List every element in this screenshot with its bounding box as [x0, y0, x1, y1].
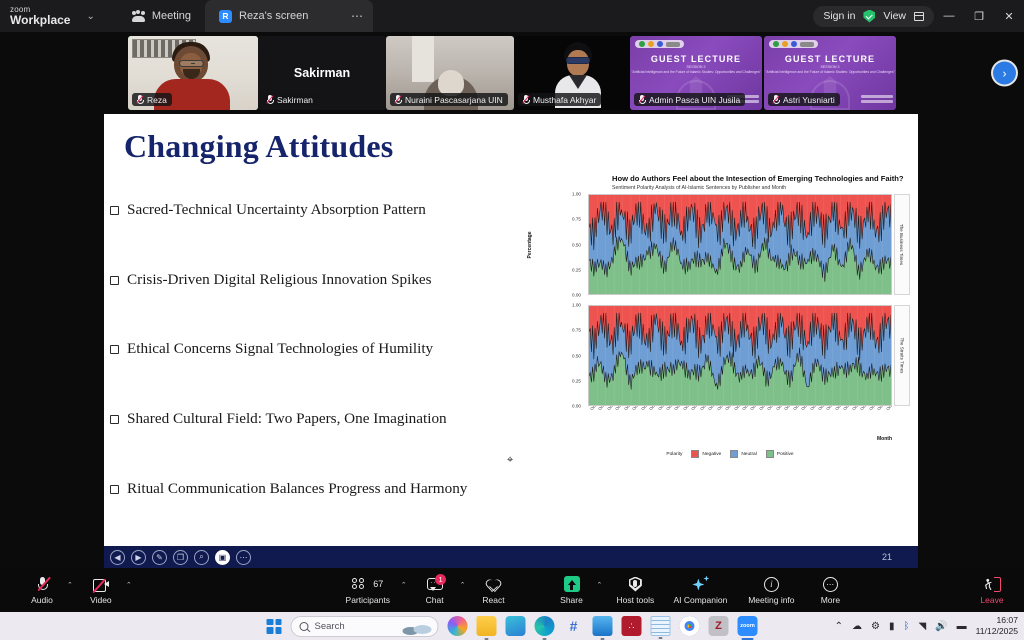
chart-plot-area: [588, 305, 892, 406]
participant-name-chip: Sakirman: [262, 93, 318, 106]
search-placeholder: Search: [315, 621, 345, 632]
share-button[interactable]: Share: [548, 576, 596, 605]
list-item: Crisis-Driven Digital Religious Innovati…: [110, 272, 510, 289]
maximize-button[interactable]: ❐: [964, 0, 994, 32]
participant-name: Reza: [147, 95, 167, 105]
legend-item-neutral: Neutral: [730, 450, 756, 458]
participant-name: Nuraini Pascasarjana UIN: [405, 95, 503, 105]
mic-muted-icon: [638, 95, 645, 105]
checkbox-bullet-icon: [110, 276, 119, 285]
participant-name-chip: Astri Yusniarti: [768, 93, 840, 106]
file-explorer-icon[interactable]: [477, 616, 497, 636]
tab-meeting[interactable]: Meeting: [117, 0, 205, 32]
video-tile-nuraini[interactable]: Nuraini Pascasarjana UIN: [386, 36, 514, 110]
minimize-button[interactable]: —: [934, 0, 964, 32]
poster-subtitle-2: "Artificial Intelligence and the Future …: [764, 70, 896, 74]
participant-name-chip: Musthafa Akhyar: [518, 93, 601, 106]
chart-plot-area: [588, 194, 892, 295]
legend-swatch: [730, 450, 738, 458]
more-horizontal-icon: ⋯: [823, 576, 838, 593]
camera-muted-icon: [93, 576, 109, 593]
participant-filmstrip: Reza Sakirman Sakirman Nuraini Pascasarj…: [0, 32, 1024, 114]
chart-yticks: 1.00 0.75 0.50 0.25 0.00: [554, 305, 584, 406]
window-controls-group: Sign in View — ❐ ✕: [813, 0, 1024, 32]
search-input[interactable]: Search: [291, 616, 439, 637]
sentiment-chart: How do Authors Feel about the Intesectio…: [504, 174, 916, 474]
host-tools-button[interactable]: Host tools: [606, 576, 664, 605]
chat-chevron-icon[interactable]: ⌃: [460, 581, 466, 589]
stacked-area-plot: [589, 306, 891, 405]
zoom-workplace-logo: zoom Workplace: [10, 6, 70, 27]
window-switch-icon[interactable]: ❐: [173, 550, 188, 565]
running-person-icon: [984, 578, 993, 591]
taskbar-apps: Search # ∴ Z zoom: [267, 616, 758, 637]
mic-muted-icon: [266, 95, 273, 105]
people-icon: [131, 10, 145, 22]
tab-rezas-screen-label: Reza's screen: [239, 10, 308, 22]
chart-facet-straits-times: 1.00 0.75 0.50 0.25 0.00 The Straits Tim…: [588, 305, 910, 406]
checkbox-bullet-icon: [110, 415, 119, 424]
stacked-area-plot: [589, 195, 891, 294]
title-bar: zoom Workplace ⌄ Meeting R Reza's screen…: [0, 0, 1024, 32]
shield-check-icon: [863, 10, 875, 23]
zoom-tile-label: zoom: [738, 616, 758, 636]
info-icon: i: [764, 576, 779, 593]
battery-icon[interactable]: ▬: [957, 621, 967, 632]
search-illustration: [401, 620, 435, 636]
ai-companion-button[interactable]: AI Companion: [664, 576, 736, 605]
chart-subtitle: Sentiment Polarity Analysis of AI-Islami…: [612, 185, 916, 191]
chart-xtick-labels: October 1988October 1989October 1990Octo…: [588, 406, 892, 440]
clock-time: 16:07: [976, 615, 1018, 626]
video-tile-reza[interactable]: Reza: [128, 36, 258, 110]
clock[interactable]: 16:07 11/12/2025: [976, 615, 1018, 636]
microphone-muted-icon: [38, 576, 47, 593]
list-item: Ethical Concerns Signal Technologies of …: [110, 341, 510, 358]
participant-name-chip: Admin Pasca UIN Jusila: [634, 93, 745, 106]
legend-item-negative: Negative: [691, 450, 721, 458]
meeting-control-toolbar: Audio ⌃ Video ⌃ 67 Participants ⌃: [0, 568, 1024, 612]
filmstrip-next-arrow-icon[interactable]: ›: [993, 62, 1016, 85]
poster-title: GUEST LECTURE: [764, 54, 896, 64]
bullet-text: Ritual Communication Balances Progress a…: [127, 481, 467, 498]
chat-icon: 1: [427, 576, 442, 593]
mendeley-icon[interactable]: ∴: [622, 616, 642, 636]
chart-title: How do Authors Feel about the Intesectio…: [612, 174, 916, 183]
clock-date: 11/12/2025: [976, 626, 1018, 637]
chat-unread-badge: 1: [435, 574, 446, 585]
bullet-text: Shared Cultural Field: Two Papers, One I…: [127, 411, 447, 428]
annotate-pen-icon[interactable]: ✎: [152, 550, 167, 565]
legend-item-positive: Positive: [766, 450, 794, 458]
video-options-chevron-icon[interactable]: ⌃: [126, 581, 132, 589]
video-tile-musthafa[interactable]: Musthafa Akhyar: [514, 36, 642, 110]
facet-strip-label: The Straits Times: [894, 305, 910, 406]
participant-name: Astri Yusniarti: [783, 95, 835, 105]
sign-in-button[interactable]: Sign in View: [813, 6, 934, 27]
video-toggle-icon[interactable]: ▣: [215, 550, 230, 565]
copilot-icon[interactable]: [448, 616, 468, 636]
slide-annotation-toolbar: ◀ ▶ ✎ ❐ ⌕ ▣ ⋯ 21: [104, 546, 918, 568]
more-options-icon[interactable]: ⋯: [236, 550, 251, 565]
shield-host-icon: [629, 576, 642, 593]
view-layout-icon: [914, 12, 924, 21]
chrome-icon[interactable]: [680, 616, 700, 636]
list-item: Shared Cultural Field: Two Papers, One I…: [110, 411, 510, 428]
presentation-slide[interactable]: Changing Attitudes Sacred-Technical Unce…: [104, 114, 918, 546]
chevron-down-icon[interactable]: ⌄: [86, 11, 94, 22]
participants-icon: 67: [352, 576, 383, 593]
more-button[interactable]: ⋯ More: [806, 576, 854, 605]
checkbox-bullet-icon: [110, 485, 119, 494]
bullet-text: Sacred-Technical Uncertainty Absorption …: [127, 202, 426, 219]
list-item: Ritual Communication Balances Progress a…: [110, 481, 510, 498]
poster-subtitle-1: SESSION 3: [630, 65, 762, 69]
checkbox-bullet-icon: [110, 345, 119, 354]
poster-subtitle-2: "Artificial Intelligence and the Future …: [630, 70, 762, 74]
settings-sliders-icon[interactable]: ⚙: [871, 621, 880, 632]
leave-button[interactable]: Leave: [968, 576, 1016, 605]
participants-button[interactable]: 67 Participants: [336, 576, 400, 605]
legend-swatch: [766, 450, 774, 458]
chart-facet-business-times: Percentage 1.00 0.75 0.50 0.25 0.00 The …: [588, 194, 910, 295]
mic-muted-icon: [136, 95, 143, 105]
onedrive-tray-icon[interactable]: ☁: [852, 621, 862, 632]
zotero-icon[interactable]: Z: [709, 616, 729, 636]
close-button[interactable]: ✕: [994, 0, 1024, 32]
chat-button[interactable]: 1 Chat: [411, 576, 459, 605]
poster-subtitle-1: SESSION 3: [764, 65, 896, 69]
chart-ylabel: Percentage: [527, 231, 533, 258]
mic-muted-icon: [522, 95, 529, 105]
leave-meeting-icon: [983, 576, 1001, 593]
participant-name: Musthafa Akhyar: [533, 95, 596, 105]
search-icon: [300, 622, 309, 631]
share-screen-icon: [564, 576, 580, 593]
next-slide-button[interactable]: ▶: [131, 550, 146, 565]
bullet-text: Ethical Concerns Signal Technologies of …: [127, 341, 433, 358]
slack-icon[interactable]: #: [564, 616, 584, 636]
previous-slide-button[interactable]: ◀: [110, 550, 125, 565]
notepad-icon[interactable]: [651, 616, 671, 636]
participants-chevron-icon[interactable]: ⌃: [401, 581, 407, 589]
chart-yticks: 1.00 0.75 0.50 0.25 0.00: [554, 194, 584, 295]
meeting-info-button[interactable]: i Meeting info: [736, 576, 806, 605]
video-tile-sakirman[interactable]: Sakirman Sakirman: [258, 36, 386, 110]
display-tray-icon[interactable]: ▮: [889, 621, 895, 632]
audio-options-chevron-icon[interactable]: ⌃: [67, 581, 73, 589]
video-button[interactable]: Video: [77, 576, 125, 605]
start-button-icon[interactable]: [267, 619, 282, 634]
bluetooth-icon[interactable]: ᛒ: [903, 621, 909, 632]
screen-share-badge-icon: R: [219, 10, 232, 23]
heart-reaction-icon: [486, 576, 501, 593]
share-chevron-icon[interactable]: ⌃: [597, 581, 603, 589]
tab-more-icon[interactable]: ⋯: [351, 9, 363, 23]
video-tile-admin-pasca[interactable]: GUEST LECTURE SESSION 3 "Artificial Inte…: [630, 36, 762, 110]
mic-muted-icon: [394, 95, 401, 105]
zoom-icon[interactable]: zoom: [738, 616, 758, 636]
volume-icon[interactable]: 🔊: [935, 621, 947, 632]
facet-strip-label: The Business Times: [894, 194, 910, 295]
tab-rezas-screen[interactable]: R Reza's screen ⋯: [205, 0, 373, 32]
windows-taskbar: Search # ∴ Z zoom ⌃ ☁ ⚙ ▮ ᛒ ◥ �: [0, 612, 1024, 640]
onedrive-icon[interactable]: [593, 616, 613, 636]
system-tray: ⌃ ☁ ⚙ ▮ ᛒ ◥ 🔊 ▬ 16:07 11/12/2025: [835, 615, 1018, 636]
slide-title: Changing Attitudes: [124, 128, 393, 165]
sign-in-label: Sign in: [823, 10, 855, 22]
tray-overflow-icon[interactable]: ⌃: [835, 621, 843, 632]
view-label: View: [883, 10, 906, 22]
react-button[interactable]: React: [470, 576, 518, 605]
poster-title: GUEST LECTURE: [630, 54, 762, 64]
slide-bullet-list: Sacred-Technical Uncertainty Absorption …: [110, 202, 510, 546]
zoom-view-icon[interactable]: ⌕: [194, 550, 209, 565]
participant-name-chip: Reza: [132, 93, 172, 106]
participant-name: Sakirman: [277, 95, 313, 105]
participant-name-chip: Nuraini Pascasarjana UIN: [390, 93, 508, 106]
legend-title: Polarity: [666, 452, 682, 457]
chart-legend: Polarity Negative Neutral Positive: [544, 450, 916, 458]
audio-button[interactable]: Audio: [18, 576, 66, 605]
microsoft-store-icon[interactable]: [506, 616, 526, 636]
bullet-text: Crisis-Driven Digital Religious Innovati…: [127, 272, 432, 289]
xtick-label: October 2023: [885, 406, 892, 411]
video-tile-astri[interactable]: GUEST LECTURE SESSION 3 "Artificial Inte…: [764, 36, 896, 110]
participants-count: 67: [373, 579, 383, 589]
wifi-icon[interactable]: ◥: [918, 621, 926, 632]
brand-large: Workplace: [10, 14, 70, 27]
shared-screen-stage: Changing Attitudes Sacred-Technical Unce…: [0, 114, 1024, 568]
sparkle-ai-icon: [692, 576, 708, 593]
legend-swatch: [691, 450, 699, 458]
slide-page-number: 21: [882, 552, 892, 562]
mic-muted-icon: [772, 95, 779, 105]
checkbox-bullet-icon: [110, 206, 119, 215]
participant-name: Admin Pasca UIN Jusila: [649, 95, 740, 105]
tab-meeting-label: Meeting: [152, 10, 191, 22]
list-item: Sacred-Technical Uncertainty Absorption …: [110, 202, 510, 219]
edge-icon[interactable]: [535, 616, 555, 636]
